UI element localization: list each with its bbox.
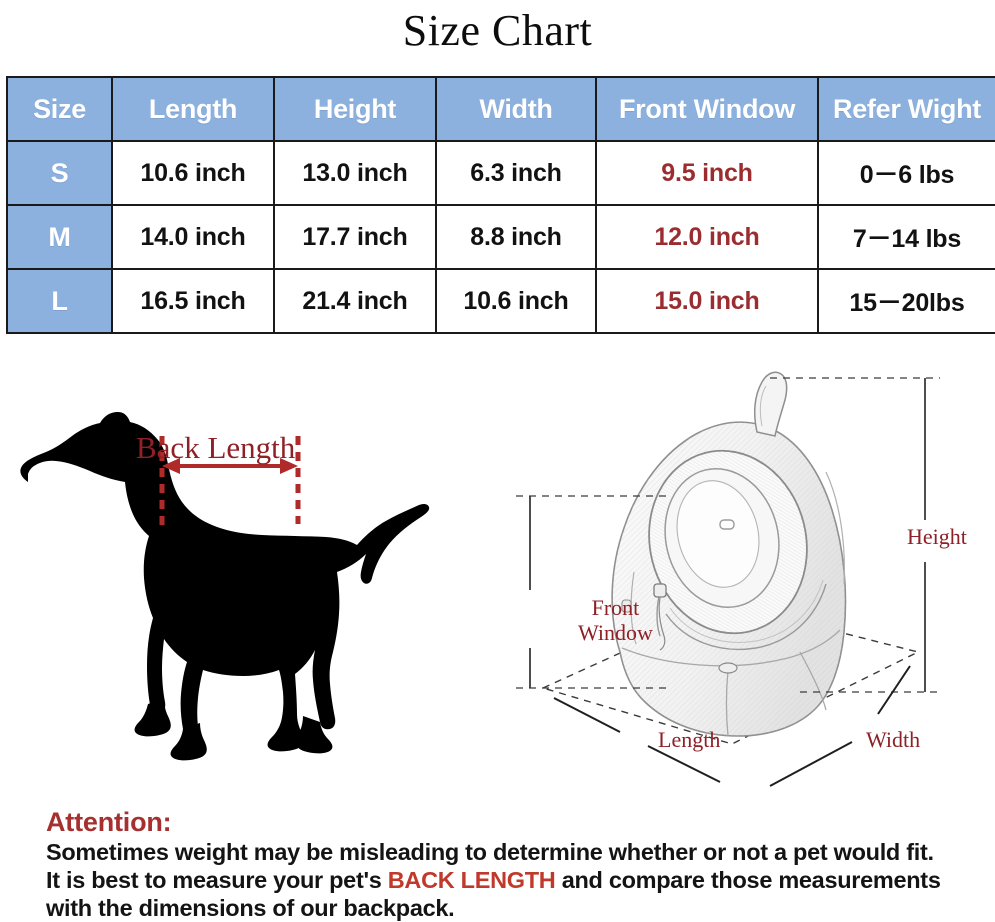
- bag-height-label: Height: [907, 524, 967, 549]
- cell-size: L: [7, 269, 112, 333]
- backpack-measurement-diagram: Height Front Window Length Width: [470, 352, 995, 800]
- attention-line-2-after: and compare those measurements: [555, 867, 940, 893]
- cell-length: 16.5 inch: [112, 269, 274, 333]
- cell-front-window: 12.0 inch: [596, 205, 818, 269]
- cell-size: M: [7, 205, 112, 269]
- back-length-label: Back Length: [136, 430, 295, 466]
- page-title: Size Chart: [0, 2, 995, 60]
- cell-front-window: 15.0 inch: [596, 269, 818, 333]
- table-row: S 10.6 inch 13.0 inch 6.3 inch 9.5 inch …: [7, 141, 995, 205]
- column-header-length: Length: [112, 77, 274, 141]
- attention-line-3: with the dimensions of our backpack.: [46, 894, 976, 922]
- cell-front-window: 9.5 inch: [596, 141, 818, 205]
- column-header-width: Width: [436, 77, 596, 141]
- cell-size: S: [7, 141, 112, 205]
- column-header-refer-wight: Refer Wight: [818, 77, 995, 141]
- table-header-row: Size Length Height Width Front Window Re…: [7, 77, 995, 141]
- dog-measurement-diagram: Back Length: [0, 352, 470, 800]
- column-header-size: Size: [7, 77, 112, 141]
- attention-line-2-before: It is best to measure your pet's: [46, 867, 388, 893]
- column-header-height: Height: [274, 77, 436, 141]
- size-chart-table-container: Size Length Height Width Front Window Re…: [6, 76, 989, 334]
- attention-line-1: Sometimes weight may be misleading to de…: [46, 838, 976, 866]
- cell-width: 6.3 inch: [436, 141, 596, 205]
- bag-length-label: Length: [658, 727, 720, 752]
- dog-silhouette-svg: [0, 352, 470, 800]
- cell-height: 17.7 inch: [274, 205, 436, 269]
- cell-width: 10.6 inch: [436, 269, 596, 333]
- cell-length: 10.6 inch: [112, 141, 274, 205]
- column-header-front-window: Front Window: [596, 77, 818, 141]
- cell-height: 21.4 inch: [274, 269, 436, 333]
- cell-height: 13.0 inch: [274, 141, 436, 205]
- cell-refer-wight: 15－20lbs: [818, 269, 995, 333]
- carrier-handle: [755, 372, 787, 436]
- cell-length: 14.0 inch: [112, 205, 274, 269]
- attention-block: Attention: Sometimes weight may be misle…: [46, 806, 976, 922]
- cell-width: 8.8 inch: [436, 205, 596, 269]
- attention-back-length-highlight: BACK LENGTH: [388, 867, 556, 893]
- table-row: M 14.0 inch 17.7 inch 8.8 inch 12.0 inch…: [7, 205, 995, 269]
- table-row: L 16.5 inch 21.4 inch 10.6 inch 15.0 inc…: [7, 269, 995, 333]
- attention-line-2: It is best to measure your pet's BACK LE…: [46, 866, 976, 894]
- illustration-band: Back Length Height: [0, 352, 995, 800]
- bag-front-window-label-line1: Front: [592, 595, 640, 620]
- bag-front-window-label-line2: Window: [578, 620, 653, 645]
- cell-refer-wight: 7－14 lbs: [818, 205, 995, 269]
- attention-heading: Attention:: [46, 806, 976, 838]
- size-chart-table: Size Length Height Width Front Window Re…: [6, 76, 995, 334]
- cell-refer-wight: 0－6 lbs: [818, 141, 995, 205]
- bag-width-label: Width: [866, 727, 920, 752]
- bag-front-window-label: Front Window: [578, 595, 653, 645]
